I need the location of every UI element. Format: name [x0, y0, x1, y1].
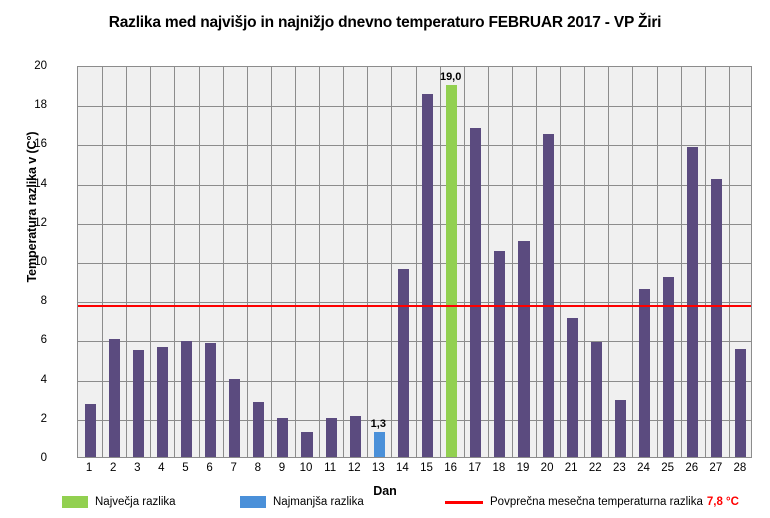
- bar-day-8[interactable]: [253, 402, 264, 457]
- x-axis-tick-label: 26: [685, 462, 698, 474]
- gridline-horizontal: [78, 224, 751, 225]
- bar-day-14[interactable]: [398, 269, 409, 457]
- gridline-vertical: [367, 67, 368, 457]
- bar-day-9[interactable]: [277, 418, 288, 457]
- y-axis-tick-label: 14: [7, 178, 47, 190]
- bar-day-11[interactable]: [326, 418, 337, 457]
- x-axis-tick-label: 28: [734, 462, 747, 474]
- bar-day-21[interactable]: [567, 318, 578, 457]
- gridline-vertical: [174, 67, 175, 457]
- y-axis-tick-label: 20: [7, 60, 47, 72]
- gridline-vertical: [512, 67, 513, 457]
- x-axis-tick-label: 2: [110, 462, 116, 474]
- gridline-vertical: [391, 67, 392, 457]
- legend-item-label: Največja razlika: [95, 496, 176, 508]
- bar-day-15[interactable]: [422, 94, 433, 457]
- x-axis-tick-label: 9: [279, 462, 285, 474]
- gridline-horizontal: [78, 145, 751, 146]
- gridline-vertical: [729, 67, 730, 457]
- legend-item-3[interactable]: Povprečna mesečna temperaturna razlika7,…: [445, 496, 739, 508]
- y-axis-tick-label: 16: [7, 138, 47, 150]
- bar-day-7[interactable]: [229, 379, 240, 457]
- legend-item-2[interactable]: Najmanjša razlika: [240, 496, 364, 508]
- bar-day-5[interactable]: [181, 341, 192, 457]
- bar-day-25[interactable]: [663, 277, 674, 457]
- y-axis-tick-label: 12: [7, 217, 47, 229]
- gridline-vertical: [608, 67, 609, 457]
- plot-area: [77, 66, 752, 458]
- bar-day-18[interactable]: [494, 251, 505, 457]
- gridline-vertical: [223, 67, 224, 457]
- gridline-vertical: [681, 67, 682, 457]
- y-axis-tick-label: 8: [7, 295, 47, 307]
- x-axis-tick-label: 1: [86, 462, 92, 474]
- bar-day-16[interactable]: [446, 85, 457, 457]
- bar-day-20[interactable]: [543, 134, 554, 457]
- x-axis-tick-label: 18: [492, 462, 505, 474]
- gridline-horizontal: [78, 106, 751, 107]
- x-axis-tick-label: 15: [420, 462, 433, 474]
- gridline-vertical: [560, 67, 561, 457]
- x-axis-tick-label: 4: [158, 462, 164, 474]
- legend-color-swatch: [62, 496, 88, 508]
- gridline-vertical: [632, 67, 633, 457]
- x-axis-tick-label: 6: [206, 462, 212, 474]
- bar-value-label-day-16: 19,0: [440, 71, 461, 83]
- bar-day-13[interactable]: [374, 432, 385, 457]
- gridline-vertical: [150, 67, 151, 457]
- legend-item-label: Povprečna mesečna temperaturna razlika: [490, 496, 703, 508]
- bar-day-23[interactable]: [615, 400, 626, 457]
- bar-day-22[interactable]: [591, 342, 602, 457]
- x-axis-tick-label: 16: [444, 462, 457, 474]
- average-reference-line: [78, 305, 751, 307]
- gridline-vertical: [271, 67, 272, 457]
- y-axis-tick-label: 4: [7, 374, 47, 386]
- y-axis-tick-label: 2: [7, 413, 47, 425]
- x-axis-tick-label: 22: [589, 462, 602, 474]
- x-axis-tick-label: 11: [324, 462, 336, 474]
- gridline-vertical: [199, 67, 200, 457]
- bar-day-6[interactable]: [205, 343, 216, 457]
- gridline-vertical: [705, 67, 706, 457]
- gridline-vertical: [126, 67, 127, 457]
- x-axis-tick-label: 21: [565, 462, 578, 474]
- bar-day-10[interactable]: [301, 432, 312, 457]
- legend-item-value: 7,8 °C: [707, 496, 739, 508]
- gridline-horizontal: [78, 341, 751, 342]
- y-axis-tick-label: 18: [7, 99, 47, 111]
- gridline-horizontal: [78, 381, 751, 382]
- bar-value-label-day-13: 1,3: [371, 418, 386, 430]
- gridline-vertical: [416, 67, 417, 457]
- gridline-vertical: [247, 67, 248, 457]
- bar-day-1[interactable]: [85, 404, 96, 457]
- gridline-vertical: [488, 67, 489, 457]
- gridline-vertical: [102, 67, 103, 457]
- x-axis-tick-label: 20: [541, 462, 554, 474]
- bar-day-3[interactable]: [133, 350, 144, 457]
- gridline-vertical: [295, 67, 296, 457]
- bar-day-12[interactable]: [350, 416, 361, 457]
- x-axis-tick-label: 27: [709, 462, 722, 474]
- x-axis-tick-label: 5: [182, 462, 188, 474]
- bar-day-24[interactable]: [639, 289, 650, 457]
- gridline-horizontal: [78, 302, 751, 303]
- bar-day-4[interactable]: [157, 347, 168, 457]
- bar-day-2[interactable]: [109, 339, 120, 457]
- x-axis-tick-label: 25: [661, 462, 674, 474]
- gridline-vertical: [584, 67, 585, 457]
- chart-container: Razlika med najvišjo in najnižjo dnevno …: [0, 0, 770, 518]
- gridline-horizontal: [78, 263, 751, 264]
- x-axis-tick-label: 12: [348, 462, 361, 474]
- x-axis-tick-label: 23: [613, 462, 626, 474]
- x-axis-tick-label: 3: [134, 462, 140, 474]
- gridline-horizontal: [78, 185, 751, 186]
- gridline-vertical: [464, 67, 465, 457]
- legend-item-label: Najmanjša razlika: [273, 496, 364, 508]
- bar-day-17[interactable]: [470, 128, 481, 457]
- x-axis-tick-label: 13: [372, 462, 385, 474]
- bar-day-27[interactable]: [711, 179, 722, 457]
- gridline-vertical: [440, 67, 441, 457]
- gridline-vertical: [319, 67, 320, 457]
- bar-day-28[interactable]: [735, 349, 746, 457]
- x-axis-tick-label: 19: [517, 462, 530, 474]
- x-axis-tick-label: 14: [396, 462, 409, 474]
- gridline-horizontal: [78, 420, 751, 421]
- legend-color-swatch: [240, 496, 266, 508]
- legend-item-1[interactable]: Največja razlika: [62, 496, 176, 508]
- y-axis-tick-label: 10: [7, 256, 47, 268]
- bar-day-19[interactable]: [518, 241, 529, 457]
- chart-title: Razlika med najvišjo in najnižjo dnevno …: [0, 14, 770, 32]
- x-axis-tick-label: 17: [468, 462, 481, 474]
- y-axis-tick-label: 6: [7, 334, 47, 346]
- chart-legend: Največja razlikaNajmanjša razlikaPovpreč…: [0, 496, 770, 516]
- x-axis-tick-label: 24: [637, 462, 650, 474]
- gridline-vertical: [657, 67, 658, 457]
- legend-line-marker: [445, 501, 483, 504]
- gridline-vertical: [343, 67, 344, 457]
- y-axis-tick-label: 0: [7, 452, 47, 464]
- x-axis-tick-label: 8: [255, 462, 261, 474]
- x-axis-tick-label: 10: [300, 462, 313, 474]
- bar-day-26[interactable]: [687, 147, 698, 457]
- y-axis-title: Temperatura razlika v (C°): [25, 27, 39, 387]
- x-axis-tick-label: 7: [230, 462, 236, 474]
- gridline-vertical: [536, 67, 537, 457]
